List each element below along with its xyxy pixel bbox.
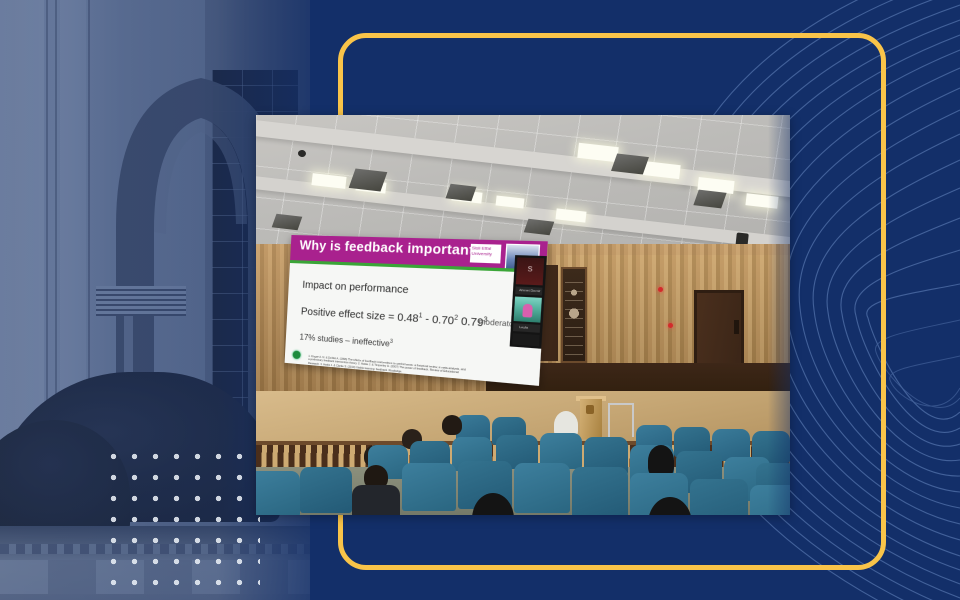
- slide-effect-size-line: Positive effect size = 0.481 - 0.702 0.7…: [301, 306, 488, 330]
- auditorium-seat: [300, 467, 352, 513]
- university-logo: Sisli Etfal University: [470, 244, 502, 264]
- video-call-panel[interactable]: S Ahmet Demir Leyla: [510, 255, 547, 349]
- participant-tile-avatar[interactable]: S: [516, 257, 544, 285]
- ceiling-vent: [524, 219, 555, 235]
- slide-status-badge: [293, 350, 301, 359]
- effect-size-mid: - 0.70: [422, 314, 454, 328]
- ceiling-vent: [446, 184, 477, 201]
- slide-ineffective-line: 17% studies – ineffective3: [299, 332, 393, 349]
- auditorium-seat: [256, 471, 300, 515]
- door-handle: [734, 320, 739, 334]
- slide-heading: Impact on performance: [302, 280, 409, 297]
- indicator-light: [658, 287, 663, 292]
- projection-screen: Why is feedback important? Sisli Etfal U…: [285, 235, 548, 386]
- audience-body: [352, 485, 400, 515]
- auditorium-seat: [690, 479, 748, 515]
- indicator-light: [668, 323, 673, 328]
- photo-edge-shading: [768, 115, 790, 515]
- participant-name: Ahmet Demir: [519, 288, 541, 294]
- dot-grid-decoration: [100, 443, 260, 600]
- participant-name: Leyla: [519, 325, 528, 330]
- participant-name-bar: Leyla: [513, 323, 540, 333]
- auditorium-seat: [572, 467, 628, 515]
- ineffective-text: 17% studies – ineffective: [299, 333, 390, 349]
- auditorium-seat: [514, 463, 570, 513]
- slide-canvas: Why is feedback important? Sisli Etfal U…: [0, 0, 960, 600]
- lecture-hall-photo: Why is feedback important? Sisli Etfal U…: [256, 115, 790, 515]
- participant-initial: S: [527, 267, 532, 274]
- decorative-wall-panel: [561, 267, 587, 363]
- slide-title: Why is feedback important?: [299, 238, 483, 258]
- participant-tile-video[interactable]: [514, 296, 542, 322]
- stage-railing: [608, 403, 634, 437]
- ceiling-vent: [349, 169, 388, 192]
- ceiling-vent: [693, 190, 726, 209]
- ceiling-vent: [611, 153, 649, 174]
- effect-size-text: Positive effect size = 0.48: [301, 306, 419, 325]
- video-panel-footer: [512, 333, 539, 346]
- auditorium-seat: [402, 463, 456, 511]
- participant-avatar: [522, 304, 533, 318]
- ceiling-vent: [272, 214, 303, 230]
- ref-marker-3b: 3: [390, 339, 393, 346]
- audience-head: [442, 415, 462, 435]
- participant-name-bar: Ahmet Demir: [515, 286, 542, 295]
- podium-emblem: [586, 405, 594, 414]
